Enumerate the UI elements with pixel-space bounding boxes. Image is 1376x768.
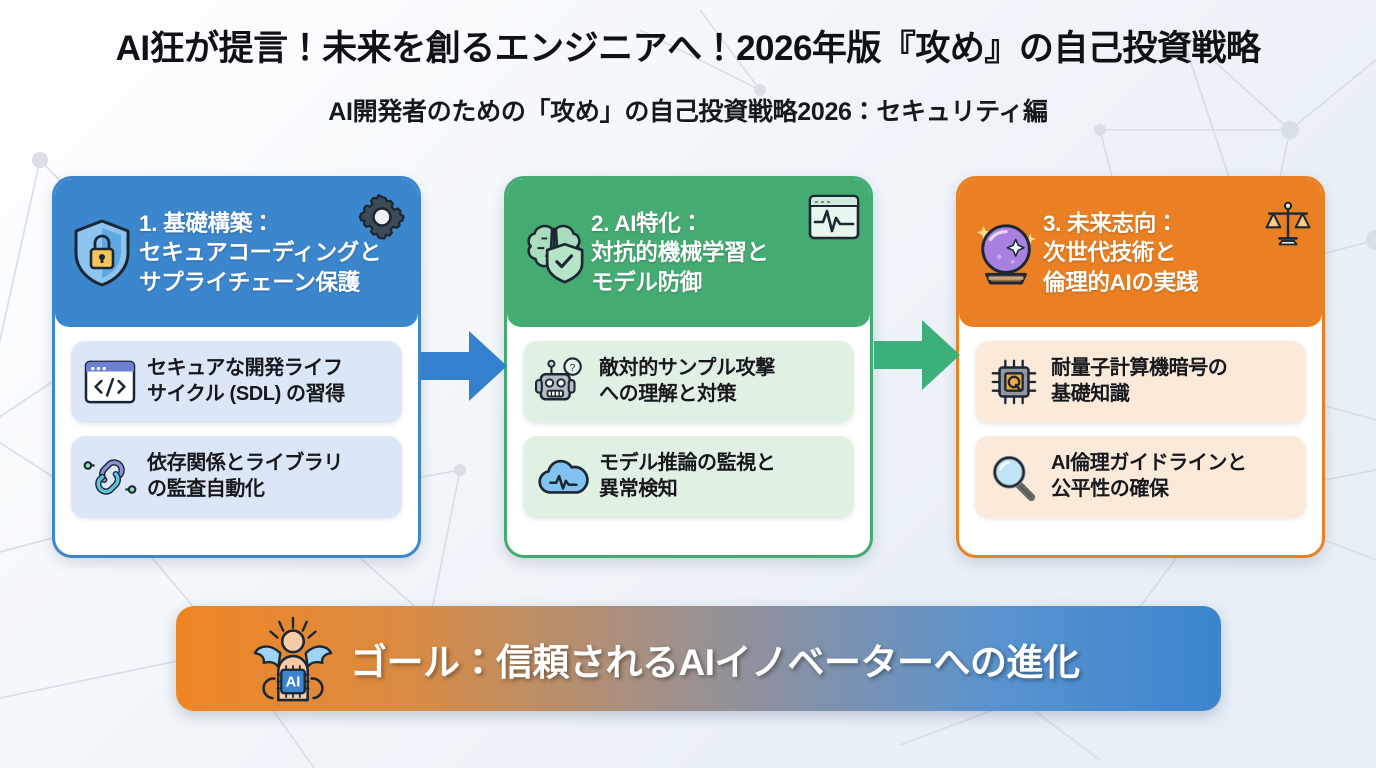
- pillar-3-items: 耐量子計算機暗号の 基礎知識 AI倫理ガイドラインと 公平性の確: [959, 327, 1322, 555]
- list-item-text: セキュアな開発ライフ サイクル (SDL) の習得: [147, 356, 392, 407]
- angel-ai-chip-icon: AI: [248, 613, 338, 705]
- list-item[interactable]: 依存関係とライブラリ の監査自動化: [71, 436, 402, 518]
- list-item[interactable]: AI倫理ガイドラインと 公平性の確保: [975, 436, 1306, 518]
- pillar-2-header: 2. AI特化： 対抗的機械学習と モデル防御: [507, 179, 870, 327]
- chain-link-icon: [81, 449, 139, 505]
- list-item-text: 耐量子計算機暗号の 基礎知識: [1051, 356, 1296, 407]
- crystal-ball-icon: [969, 212, 1043, 294]
- code-window-icon: [81, 354, 139, 410]
- monitor-waveform-icon: [808, 193, 860, 241]
- shield-lock-icon: [65, 212, 139, 294]
- pillar-1-items: セキュアな開発ライフ サイクル (SDL) の習得: [55, 327, 418, 555]
- page-title: AI狂が提言！未来を創るエンジニアへ！2026年版『攻め』の自己投資戦略: [0, 20, 1376, 71]
- goal-banner[interactable]: AI ゴール：信頼されるAIイノベーターへの進化: [176, 606, 1221, 711]
- quantum-chip-icon: [985, 354, 1043, 410]
- balance-scale-icon: [1262, 199, 1314, 247]
- list-item-text: 敵対的サンプル攻撃 への理解と対策: [599, 356, 844, 407]
- cloud-pulse-icon: [533, 449, 591, 505]
- magnifier-icon: [985, 449, 1043, 505]
- list-item[interactable]: ? 敵対的サンプル攻撃 への理解と対策: [523, 341, 854, 423]
- arrow-step1-to-step2: [421, 329, 507, 403]
- pillar-2-items: ? 敵対的サンプル攻撃 への理解と対策: [507, 327, 870, 555]
- list-item-text: AI倫理ガイドラインと 公平性の確保: [1051, 451, 1296, 502]
- brain-shield-icon: [517, 212, 591, 294]
- pillar-1-header: 1. 基礎構築： セキュアコーディングと サプライチェーン保護: [55, 179, 418, 327]
- goal-text: ゴール：信頼されるAIイノベーターへの進化: [350, 632, 1080, 686]
- pillar-card-3[interactable]: 3. 未来志向： 次世代技術と 倫理的AIの実践: [956, 176, 1325, 558]
- list-item[interactable]: 耐量子計算機暗号の 基礎知識: [975, 341, 1306, 423]
- infographic-stage: AI狂が提言！未来を創るエンジニアへ！2026年版『攻め』の自己投資戦略 AI開…: [0, 0, 1376, 768]
- list-item[interactable]: セキュアな開発ライフ サイクル (SDL) の習得: [71, 341, 402, 423]
- gear-icon: [356, 193, 408, 241]
- list-item-text: 依存関係とライブラリ の監査自動化: [147, 451, 392, 502]
- list-item-text: モデル推論の監視と 異常検知: [599, 451, 844, 502]
- svg-text:?: ?: [570, 362, 576, 374]
- pillar-card-2[interactable]: 2. AI特化： 対抗的機械学習と モデル防御 ?: [504, 176, 873, 558]
- list-item[interactable]: モデル推論の監視と 異常検知: [523, 436, 854, 518]
- arrow-step2-to-step3: [874, 318, 960, 392]
- page-subtitle: AI開発者のための「攻め」の自己投資戦略2026：セキュリティ編: [0, 92, 1376, 128]
- pillar-card-1[interactable]: 1. 基礎構築： セキュアコーディングと サプライチェーン保護: [52, 176, 421, 558]
- robot-question-icon: ?: [533, 354, 591, 410]
- pillar-3-header: 3. 未来志向： 次世代技術と 倫理的AIの実践: [959, 179, 1322, 327]
- svg-text:AI: AI: [286, 674, 301, 690]
